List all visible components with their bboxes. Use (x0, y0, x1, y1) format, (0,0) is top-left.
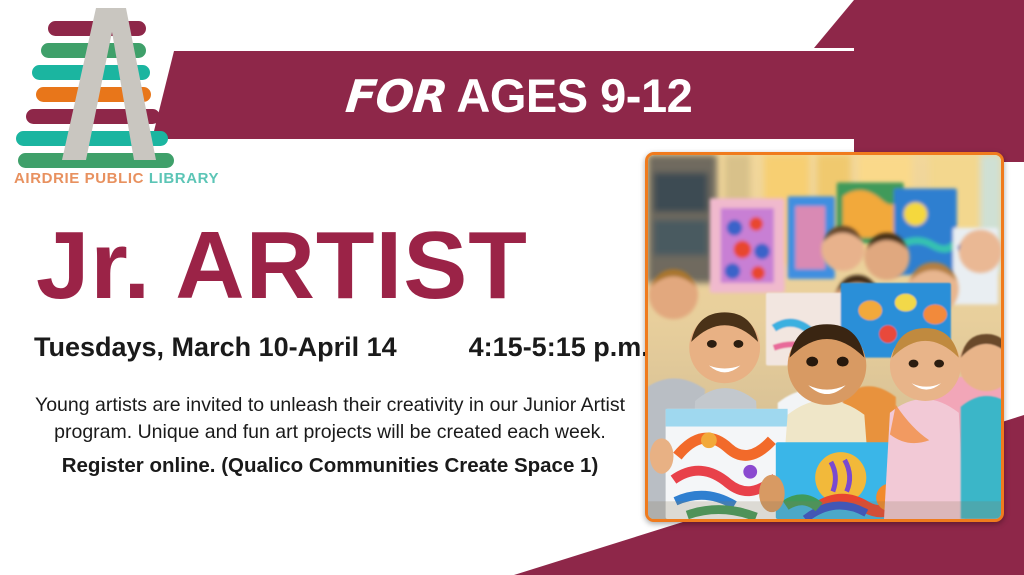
program-photo (645, 152, 1004, 522)
decorative-shape-right-block (854, 47, 1024, 162)
age-banner-script-word: FOR (343, 70, 449, 123)
schedule-time: 4:15-5:15 p.m. (469, 332, 649, 363)
logo-bar-7 (18, 153, 174, 168)
registration-note: Register online. (Qualico Communities Cr… (18, 452, 642, 480)
logo-bar-1 (48, 21, 146, 36)
logo-wordmark-part-one: AIRDRIE PUBLIC (14, 170, 149, 187)
library-logo: AIRDRIE PUBLIC LIBRARY (8, 8, 218, 193)
logo-bar-4 (36, 87, 151, 102)
description-line-two: program. Unique and fun art projects wil… (54, 421, 606, 443)
program-photo-illustration (648, 155, 1001, 519)
age-banner-bold-text: AGES 9-12 (456, 69, 692, 122)
schedule-dates: Tuesdays, March 10-April 14 (34, 332, 397, 363)
decorative-shape-top-right (814, 0, 1024, 48)
logo-bar-2 (41, 43, 146, 58)
logo-mark (8, 8, 208, 160)
age-banner-text: FORAGES 9-12 (346, 68, 692, 123)
logo-bar-3 (32, 65, 150, 80)
age-banner: FORAGES 9-12 (152, 51, 864, 139)
logo-wordmark-part-two: LIBRARY (149, 170, 219, 187)
poster-canvas: FORAGES 9-12 AIRDRIE PUBLIC LIBRARY Jr. … (0, 0, 1024, 575)
logo-wordmark: AIRDRIE PUBLIC LIBRARY (14, 170, 219, 187)
logo-bar-5 (26, 109, 160, 124)
program-description: Young artists are invited to unleash the… (18, 392, 642, 446)
schedule-row: Tuesdays, March 10-April 14 4:15-5:15 p.… (34, 332, 634, 363)
description-line-one: Young artists are invited to unleash the… (35, 394, 625, 416)
logo-bar-6 (16, 131, 168, 146)
program-title: Jr. ARTIST (36, 214, 528, 318)
